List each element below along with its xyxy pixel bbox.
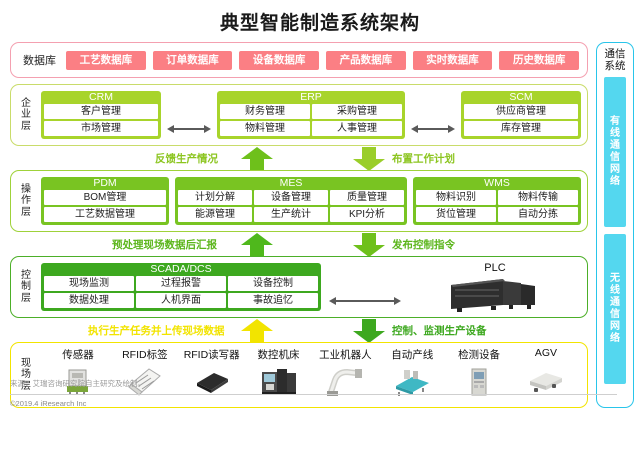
field-device-label: AGV: [535, 347, 557, 359]
scada-plc-link: [327, 282, 403, 292]
database-chip[interactable]: 实时数据库: [413, 51, 493, 70]
module-cell[interactable]: 采购管理: [312, 104, 402, 119]
flow-down-arrow: [352, 318, 386, 344]
module-cell[interactable]: 能源管理: [178, 207, 252, 222]
field-device-label: 检测设备: [458, 347, 500, 362]
module-cell[interactable]: 过程报警: [136, 276, 226, 291]
crm-erp-link: [167, 110, 211, 120]
database-chip[interactable]: 历史数据库: [499, 51, 579, 70]
flow-operation-control: 预处理现场数据后汇报 发布控制指令: [0, 232, 640, 258]
group-crm[interactable]: CRM 客户管理 市场管理: [41, 91, 161, 139]
flow-up-arrow: [240, 232, 274, 258]
arrow-bar: [418, 128, 448, 130]
copyright-note: ©2019.4 iResearch Inc: [10, 398, 630, 409]
control-layer-label-text: 控制层: [21, 270, 32, 305]
arrow-right-tip: [448, 125, 455, 133]
enterprise-layer-label: 企业层: [11, 85, 41, 145]
module-cell[interactable]: 物料识别: [416, 190, 496, 205]
enterprise-layer-band: 企业层 CRM 客户管理 市场管理 ERP: [10, 84, 588, 146]
flow-down-label: 布置工作计划: [392, 146, 455, 172]
flow-down-arrow: [352, 232, 386, 258]
operation-layer-label: 操作层: [11, 171, 41, 231]
wired-network-block[interactable]: 有线通信网络: [604, 77, 626, 227]
group-scm[interactable]: SCM 供应商管理 库存管理: [461, 91, 581, 139]
database-chip-list: 工艺数据库 订单数据库 设备数据库 产品数据库 实时数据库 历史数据库: [66, 51, 587, 70]
arrow-left-tip: [411, 125, 418, 133]
flow-up-arrow: [240, 146, 274, 172]
module-cell[interactable]: 供应商管理: [464, 104, 578, 119]
footer: 来源：艾瑞咨询研究院自主研究及绘制。 ©2019.4 iResearch Inc: [10, 378, 630, 409]
module-cell[interactable]: 数据处理: [44, 293, 134, 308]
module-cell[interactable]: 人机界面: [136, 293, 226, 308]
control-layer-body: SCADA/DCS 现场监测 过程报警 设备控制 数据处理 人机界面 事故追忆: [41, 257, 587, 317]
plc-cabinet-icon: [447, 275, 543, 313]
database-band: 数据库 工艺数据库 订单数据库 设备数据库 产品数据库 实时数据库 历史数据库: [10, 42, 588, 78]
arrow-right-tip: [394, 297, 401, 305]
module-cell[interactable]: 物料传输: [498, 190, 578, 205]
group-scada-dcs-title: SCADA/DCS: [44, 263, 318, 276]
architecture-diagram: 数据库 工艺数据库 订单数据库 设备数据库 产品数据库 实时数据库 历史数据库 …: [0, 40, 640, 420]
communication-title: 通信系统: [602, 48, 628, 72]
module-cell[interactable]: 事故追忆: [228, 293, 318, 308]
flow-up-label: 执行生产任务并上传现场数据: [88, 318, 225, 344]
flow-control-field: 执行生产任务并上传现场数据 控制、监测生产设备: [0, 318, 640, 344]
group-erp[interactable]: ERP 财务管理 采购管理 物料管理 人事管理: [217, 91, 405, 139]
group-erp-title: ERP: [220, 91, 402, 104]
flow-down-label: 发布控制指令: [392, 232, 455, 258]
database-label: 数据库: [11, 52, 66, 68]
arrow-bar: [174, 128, 204, 130]
module-cell[interactable]: 库存管理: [464, 121, 578, 136]
group-mes[interactable]: MES 计划分解 设备管理 质量管理 能源管理 生产统计 KPI分析: [175, 177, 407, 225]
wireless-network-block[interactable]: 无线通信网络: [604, 234, 626, 384]
group-pdm-title: PDM: [44, 177, 166, 190]
module-cell[interactable]: 自动分拣: [498, 207, 578, 222]
module-cell[interactable]: BOM管理: [44, 190, 166, 205]
enterprise-layer-body: CRM 客户管理 市场管理 ERP 财务管理 采购管理: [41, 85, 587, 145]
arrow-right-tip: [204, 125, 211, 133]
control-layer-band: 控制层 SCADA/DCS 现场监测 过程报警 设备控制 数据处理 人机界面 事…: [10, 256, 588, 318]
plc-unit[interactable]: PLC: [409, 262, 581, 313]
plc-label: PLC: [484, 262, 505, 275]
flow-up-label: 预处理现场数据后汇报: [112, 232, 217, 258]
erp-scm-link: [411, 110, 455, 120]
flow-up-label: 反馈生产情况: [155, 146, 218, 172]
flow-down-label: 控制、监测生产设备: [392, 318, 487, 344]
module-cell[interactable]: 设备控制: [228, 276, 318, 291]
footer-divider: [10, 394, 617, 395]
arrow-bar: [336, 300, 394, 302]
operation-layer-body: PDM BOM管理 工艺数据管理 MES 计划分解 设备管理 质量管理 能源管理: [41, 171, 587, 231]
wireless-network-label: 无线通信网络: [609, 273, 621, 345]
enterprise-layer-label-text: 企业层: [21, 98, 32, 133]
module-cell[interactable]: 计划分解: [178, 190, 252, 205]
field-device-label: 自动产线: [391, 347, 433, 362]
field-device-label: 工业机器人: [319, 347, 372, 362]
module-cell[interactable]: 货位管理: [416, 207, 496, 222]
flow-enterprise-operation: 反馈生产情况 布置工作计划: [0, 146, 640, 172]
module-cell[interactable]: 生产统计: [254, 207, 328, 222]
group-mes-title: MES: [178, 177, 404, 190]
group-scm-title: SCM: [464, 91, 578, 104]
group-pdm[interactable]: PDM BOM管理 工艺数据管理: [41, 177, 169, 225]
database-chip[interactable]: 订单数据库: [153, 51, 233, 70]
module-cell[interactable]: 客户管理: [44, 104, 158, 119]
group-wms[interactable]: WMS 物料识别 物料传输 货位管理 自动分拣: [413, 177, 581, 225]
database-chip[interactable]: 工艺数据库: [66, 51, 146, 70]
arrow-left-tip: [167, 125, 174, 133]
communication-sidebar: 通信系统 有线通信网络 无线通信网络: [596, 42, 634, 408]
arrow-left-tip: [329, 297, 336, 305]
module-cell[interactable]: 人事管理: [312, 121, 402, 136]
control-layer-label: 控制层: [11, 257, 41, 317]
module-cell[interactable]: 财务管理: [220, 104, 310, 119]
module-cell[interactable]: 现场监测: [44, 276, 134, 291]
module-cell[interactable]: 设备管理: [254, 190, 328, 205]
database-chip[interactable]: 设备数据库: [239, 51, 319, 70]
field-device-label: 传感器: [62, 347, 94, 362]
page-title: 典型智能制造系统架构: [0, 0, 640, 40]
module-cell[interactable]: KPI分析: [330, 207, 404, 222]
group-crm-title: CRM: [44, 91, 158, 104]
flow-down-arrow: [352, 146, 386, 172]
flow-up-arrow: [240, 318, 274, 344]
source-note: 来源：艾瑞咨询研究院自主研究及绘制。: [10, 378, 630, 390]
operation-layer-band: 操作层 PDM BOM管理 工艺数据管理 MES 计划分解 设备管理 质量管理: [10, 170, 588, 232]
field-device-label: RFID读写器: [184, 347, 240, 362]
module-cell[interactable]: 质量管理: [330, 190, 404, 205]
module-cell[interactable]: 物料管理: [220, 121, 310, 136]
database-chip[interactable]: 产品数据库: [326, 51, 406, 70]
field-device-label: RFID标签: [122, 347, 168, 362]
module-cell[interactable]: 工艺数据管理: [44, 207, 166, 222]
module-cell[interactable]: 市场管理: [44, 121, 158, 136]
field-device-label: 数控机床: [258, 347, 300, 362]
group-wms-title: WMS: [416, 177, 578, 190]
wired-network-label: 有线通信网络: [609, 116, 621, 188]
operation-layer-label-text: 操作层: [21, 184, 32, 219]
group-scada-dcs[interactable]: SCADA/DCS 现场监测 过程报警 设备控制 数据处理 人机界面 事故追忆: [41, 263, 321, 311]
